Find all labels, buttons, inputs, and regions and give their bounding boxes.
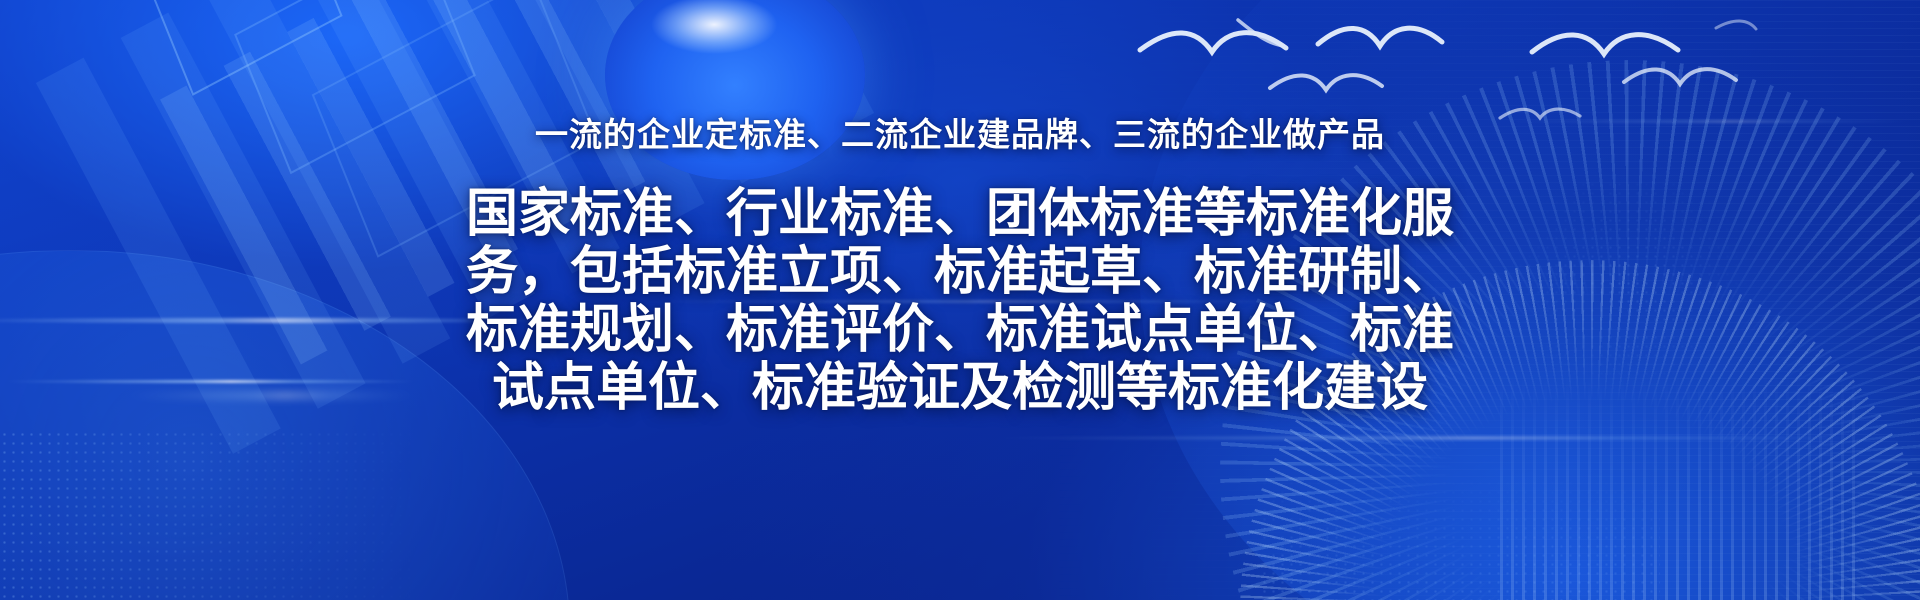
promo-banner: 一流的企业定标准、二流企业建品牌、三流的企业做产品 国家标准、行业标准、团体标准… <box>0 0 1920 600</box>
subheadline-line: 试点单位、标准验证及检测等标准化建设 <box>445 359 1475 417</box>
banner-headline: 一流的企业定标准、二流企业建品牌、三流的企业做产品 <box>535 115 1385 155</box>
subheadline-line: 国家标准、行业标准、团体标准等标准化服 <box>445 185 1475 243</box>
banner-subheadline: 国家标准、行业标准、团体标准等标准化服 务，包括标准立项、标准起草、标准研制、 … <box>445 185 1475 418</box>
banner-content: 一流的企业定标准、二流企业建品牌、三流的企业做产品 国家标准、行业标准、团体标准… <box>0 0 1920 600</box>
subheadline-line: 务，包括标准立项、标准起草、标准研制、 <box>445 243 1475 301</box>
subheadline-line: 标准规划、标准评价、标准试点单位、标准 <box>445 301 1475 359</box>
